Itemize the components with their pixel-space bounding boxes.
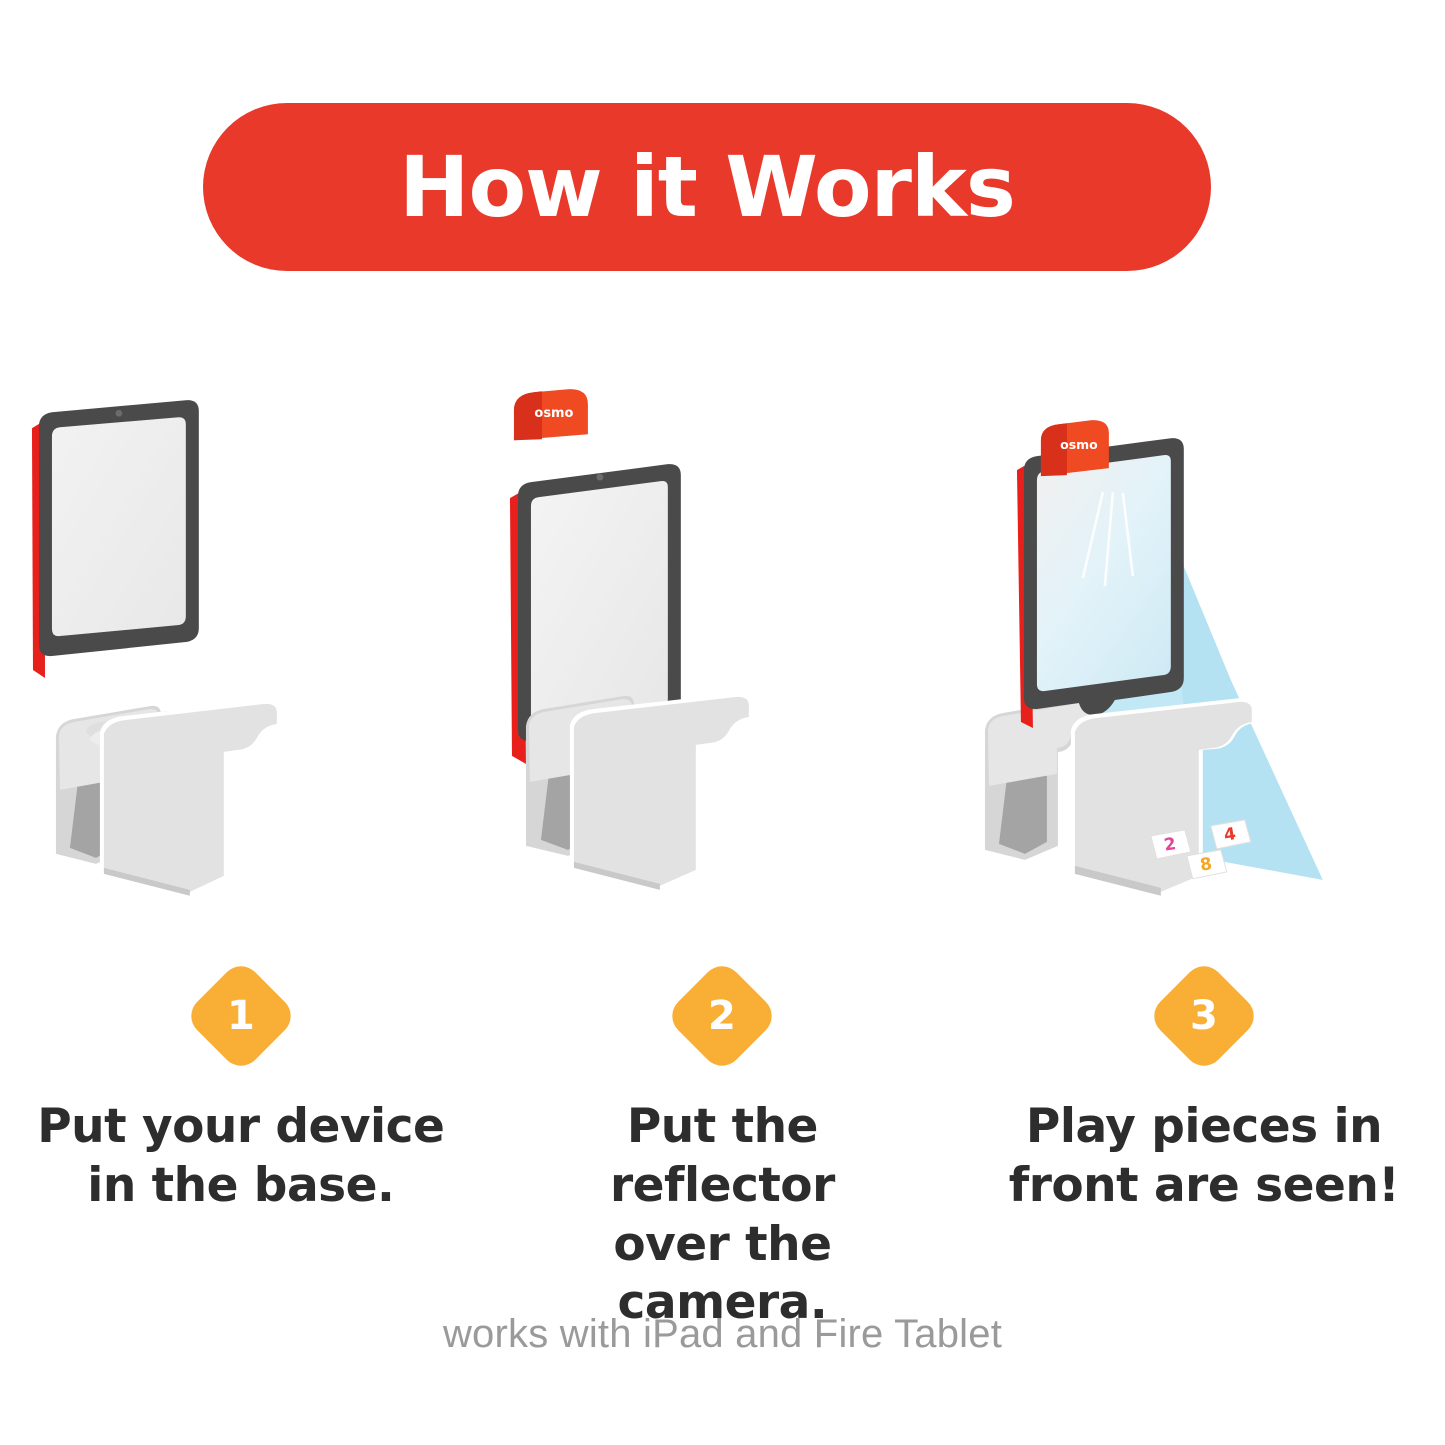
tablet-camera-icon — [596, 474, 603, 481]
step-caption-1-line-2: in the base. — [26, 1157, 456, 1216]
step-caption-2-line-1: Put the reflector — [508, 1098, 938, 1216]
step-badge-1-number: 1 — [227, 996, 255, 1036]
step-badge-3-number: 3 — [1190, 996, 1218, 1036]
step-3-illustration: osmo 2 4 — [963, 380, 1445, 960]
step-badges-row: 1 2 3 — [0, 975, 1445, 1075]
step-caption-3-line-1: Play pieces in — [989, 1098, 1419, 1157]
tablet-reflector-light-cone-graphic: osmo 2 4 — [963, 380, 1445, 960]
steps-illustrations-row: osmo — [0, 380, 1445, 960]
step-badge-2: 2 — [664, 958, 780, 1074]
step-captions-row: Put your device in the base. Put the ref… — [0, 1098, 1445, 1333]
reflector-brand-label: osmo — [534, 406, 573, 421]
step-badge-2-number: 2 — [708, 996, 736, 1036]
how-it-works-infographic: How it Works — [0, 0, 1445, 1445]
page-title: How it Works — [399, 145, 1015, 229]
badge-cell-2: 2 — [482, 975, 964, 1075]
step-caption-1: Put your device in the base. — [0, 1098, 482, 1333]
tablet-device-icon — [1024, 438, 1184, 715]
base-stand-icon — [56, 700, 281, 896]
step-badge-3: 3 — [1146, 958, 1262, 1074]
step-caption-2: Put the reflector over the camera. — [482, 1098, 964, 1333]
step-2-illustration: osmo — [482, 380, 964, 960]
step-1-illustration — [0, 380, 482, 960]
compatibility-note: works with iPad and Fire Tablet — [443, 1312, 1002, 1356]
step-badge-1: 1 — [183, 958, 299, 1074]
tablet-camera-icon — [116, 410, 123, 417]
header-pill: How it Works — [203, 103, 1211, 271]
step-caption-3-line-2: front are seen! — [989, 1157, 1419, 1216]
tablet-in-base-with-reflector-graphic: osmo — [482, 380, 964, 960]
tablet-device-icon — [39, 400, 199, 656]
reflector-clip-icon: osmo — [1041, 420, 1109, 476]
base-stand-icon — [526, 693, 753, 890]
step-caption-1-line-1: Put your device — [26, 1098, 456, 1157]
reflector-brand-label: osmo — [1060, 437, 1098, 452]
step-caption-3: Play pieces in front are seen! — [963, 1098, 1445, 1333]
badge-cell-3: 3 — [963, 975, 1445, 1075]
tablet-above-base-graphic — [0, 380, 482, 960]
badge-cell-1: 1 — [0, 975, 482, 1075]
reflector-clip-icon: osmo — [514, 389, 588, 440]
footer: works with iPad and Fire Tablet — [0, 1312, 1445, 1357]
